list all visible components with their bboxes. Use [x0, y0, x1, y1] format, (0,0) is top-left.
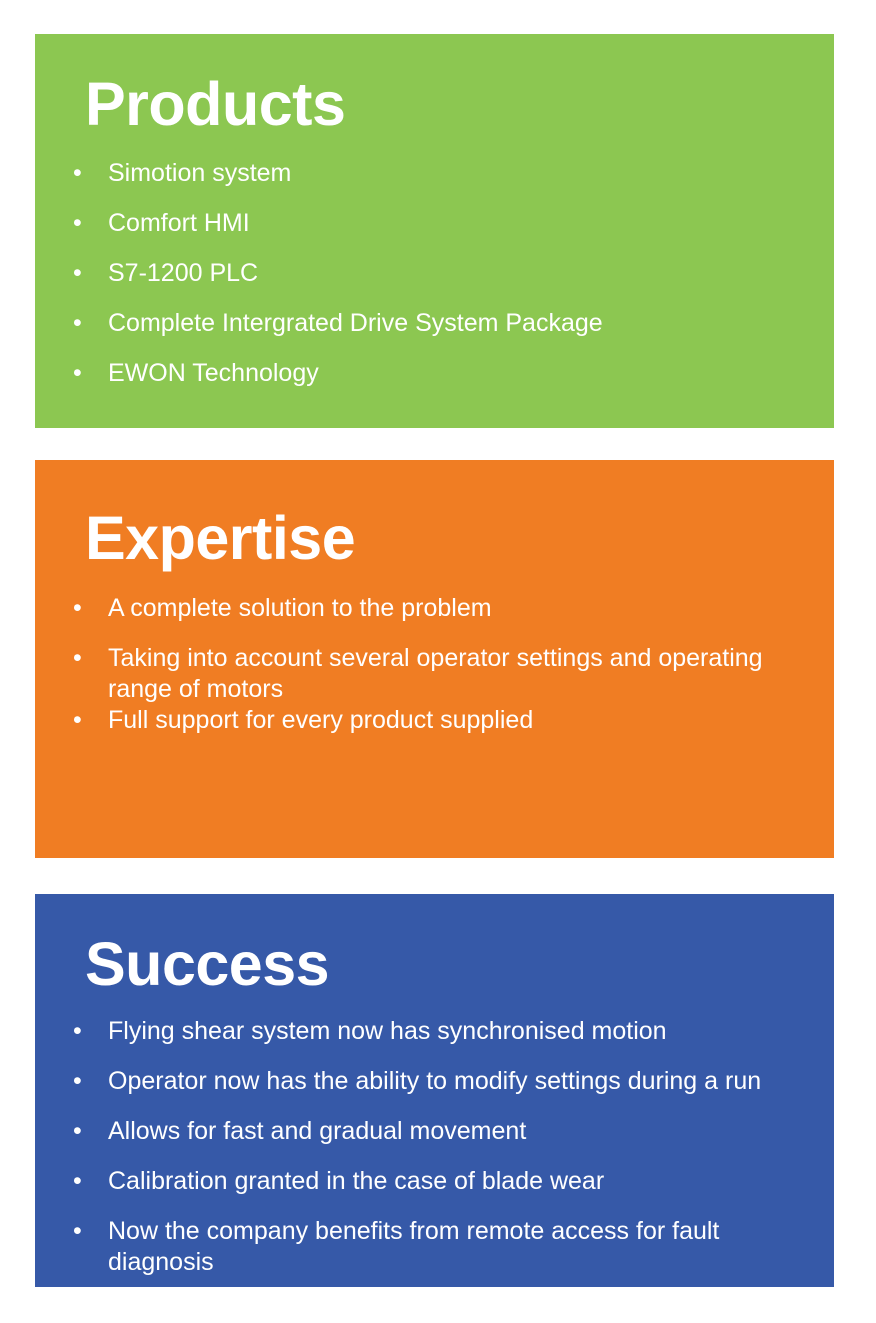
bullet-point-icon: •	[73, 358, 87, 389]
list-item: • Comfort HMI	[35, 208, 834, 258]
panel-heading-expertise: Expertise	[85, 508, 355, 569]
bullet-list-products: • Simotion system • Comfort HMI • S7-120…	[35, 158, 834, 408]
list-item: • EWON Technology	[35, 358, 834, 408]
list-item: • S7-1200 PLC	[35, 258, 834, 308]
bullet-point-icon: •	[73, 705, 87, 736]
list-item: • A complete solution to the problem	[35, 593, 834, 643]
list-item: • Flying shear system now has synchronis…	[35, 1016, 834, 1066]
bullet-list-expertise: • A complete solution to the problem • T…	[35, 593, 834, 755]
list-item-label: EWON Technology	[108, 358, 774, 389]
bullet-point-icon: •	[73, 308, 87, 339]
list-item: • Now the company benefits from remote a…	[35, 1216, 834, 1278]
list-item-label: Calibration granted in the case of blade…	[108, 1166, 774, 1197]
list-item: • Operator now has the ability to modify…	[35, 1066, 834, 1116]
bullet-list-success: • Flying shear system now has synchronis…	[35, 1016, 834, 1278]
panel-expertise: Expertise • A complete solution to the p…	[35, 460, 834, 858]
list-item-label: Taking into account several operator set…	[108, 643, 774, 705]
panel-products: Products • Simotion system • Comfort HMI…	[35, 34, 834, 428]
list-item-label: Full support for every product supplied	[108, 705, 774, 736]
list-item: • Allows for fast and gradual movement	[35, 1116, 834, 1166]
list-item: • Taking into account several operator s…	[35, 643, 834, 705]
bullet-point-icon: •	[73, 1166, 87, 1197]
panel-heading-products: Products	[85, 74, 345, 135]
panel-success: Success • Flying shear system now has sy…	[35, 894, 834, 1287]
list-item-label: Operator now has the ability to modify s…	[108, 1066, 774, 1097]
bullet-point-icon: •	[73, 593, 87, 624]
bullet-point-icon: •	[73, 1016, 87, 1047]
bullet-point-icon: •	[73, 1066, 87, 1097]
bullet-point-icon: •	[73, 1216, 87, 1247]
list-item-label: Comfort HMI	[108, 208, 774, 239]
list-item-label: Now the company benefits from remote acc…	[108, 1216, 774, 1278]
list-item-label: Flying shear system now has synchronised…	[108, 1016, 774, 1047]
bullet-point-icon: •	[73, 1116, 87, 1147]
list-item: • Full support for every product supplie…	[35, 705, 834, 755]
list-item: • Calibration granted in the case of bla…	[35, 1166, 834, 1216]
list-item: • Complete Intergrated Drive System Pack…	[35, 308, 834, 358]
slide-canvas: Products • Simotion system • Comfort HMI…	[0, 0, 876, 1323]
panel-heading-success: Success	[85, 934, 329, 995]
list-item-label: A complete solution to the problem	[108, 593, 774, 624]
bullet-point-icon: •	[73, 643, 87, 674]
list-item: • Simotion system	[35, 158, 834, 208]
list-item-label: Allows for fast and gradual movement	[108, 1116, 774, 1147]
list-item-label: Simotion system	[108, 158, 774, 189]
list-item-label: S7-1200 PLC	[108, 258, 774, 289]
list-item-label: Complete Intergrated Drive System Packag…	[108, 308, 774, 339]
bullet-point-icon: •	[73, 258, 87, 289]
bullet-point-icon: •	[73, 208, 87, 239]
bullet-point-icon: •	[73, 158, 87, 189]
